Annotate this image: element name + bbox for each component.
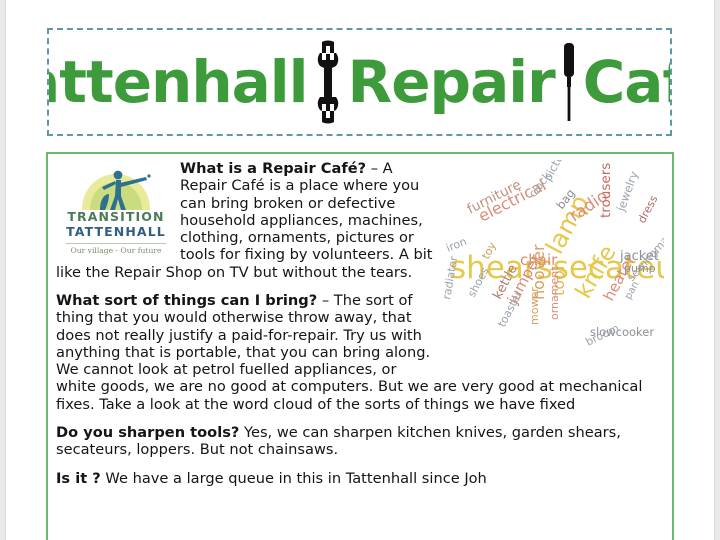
- word-cloud-word: trousers: [598, 163, 614, 218]
- document-page: Tattenhall Repair Cafe: [0, 0, 720, 540]
- banner-word-tattenhall: Tattenhall: [47, 53, 308, 111]
- banner-word-cafe: Cafe: [583, 53, 672, 111]
- wrench-icon: [314, 40, 342, 124]
- word-cloud-word: dress: [635, 193, 660, 225]
- body-clipped: We have a large queue in this in Tattenh…: [101, 470, 487, 487]
- paragraph-sharpen-tools: Do you sharpen tools? Yes, we can sharpe…: [56, 424, 662, 459]
- banner-word-repair: Repair: [348, 53, 555, 111]
- transition-tattenhall-logo: TRANSITION TATTENHALL Our village - Our …: [62, 166, 170, 258]
- word-cloud-word: ornament: [548, 266, 561, 320]
- repair-cafe-banner: Tattenhall Repair Cafe: [47, 28, 672, 136]
- logo-tagline: Our village - Our future: [71, 246, 162, 255]
- transition-logo-mark: [64, 166, 168, 210]
- heading-clipped: Is it ?: [56, 470, 101, 487]
- logo-name-line2: TATTENHALL: [66, 225, 166, 240]
- logo-name-line1: TRANSITION: [66, 210, 166, 225]
- word-cloud-image: shearssecateurslampknifeelectricalfurnit…: [442, 160, 664, 372]
- word-cloud-svg: shearssecateurslampknifeelectricalfurnit…: [442, 160, 664, 372]
- logo-divider: [66, 243, 166, 244]
- heading-what-is-repair-cafe: What is a Repair Café?: [180, 160, 366, 177]
- viewer-left-gutter: [0, 0, 6, 540]
- word-cloud-word: mower: [528, 287, 541, 325]
- paragraph-clipped: Is it ? We have a large queue in this in…: [56, 470, 662, 487]
- heading-sharpen-tools: Do you sharpen tools?: [56, 424, 239, 441]
- word-cloud-word: jewelry: [613, 169, 641, 214]
- content-frame: TRANSITION TATTENHALL Our village - Our …: [46, 152, 674, 540]
- screwdriver-icon: [561, 41, 577, 123]
- viewer-right-gutter: [714, 0, 720, 540]
- heading-what-to-bring: What sort of things can I bring?: [56, 292, 317, 309]
